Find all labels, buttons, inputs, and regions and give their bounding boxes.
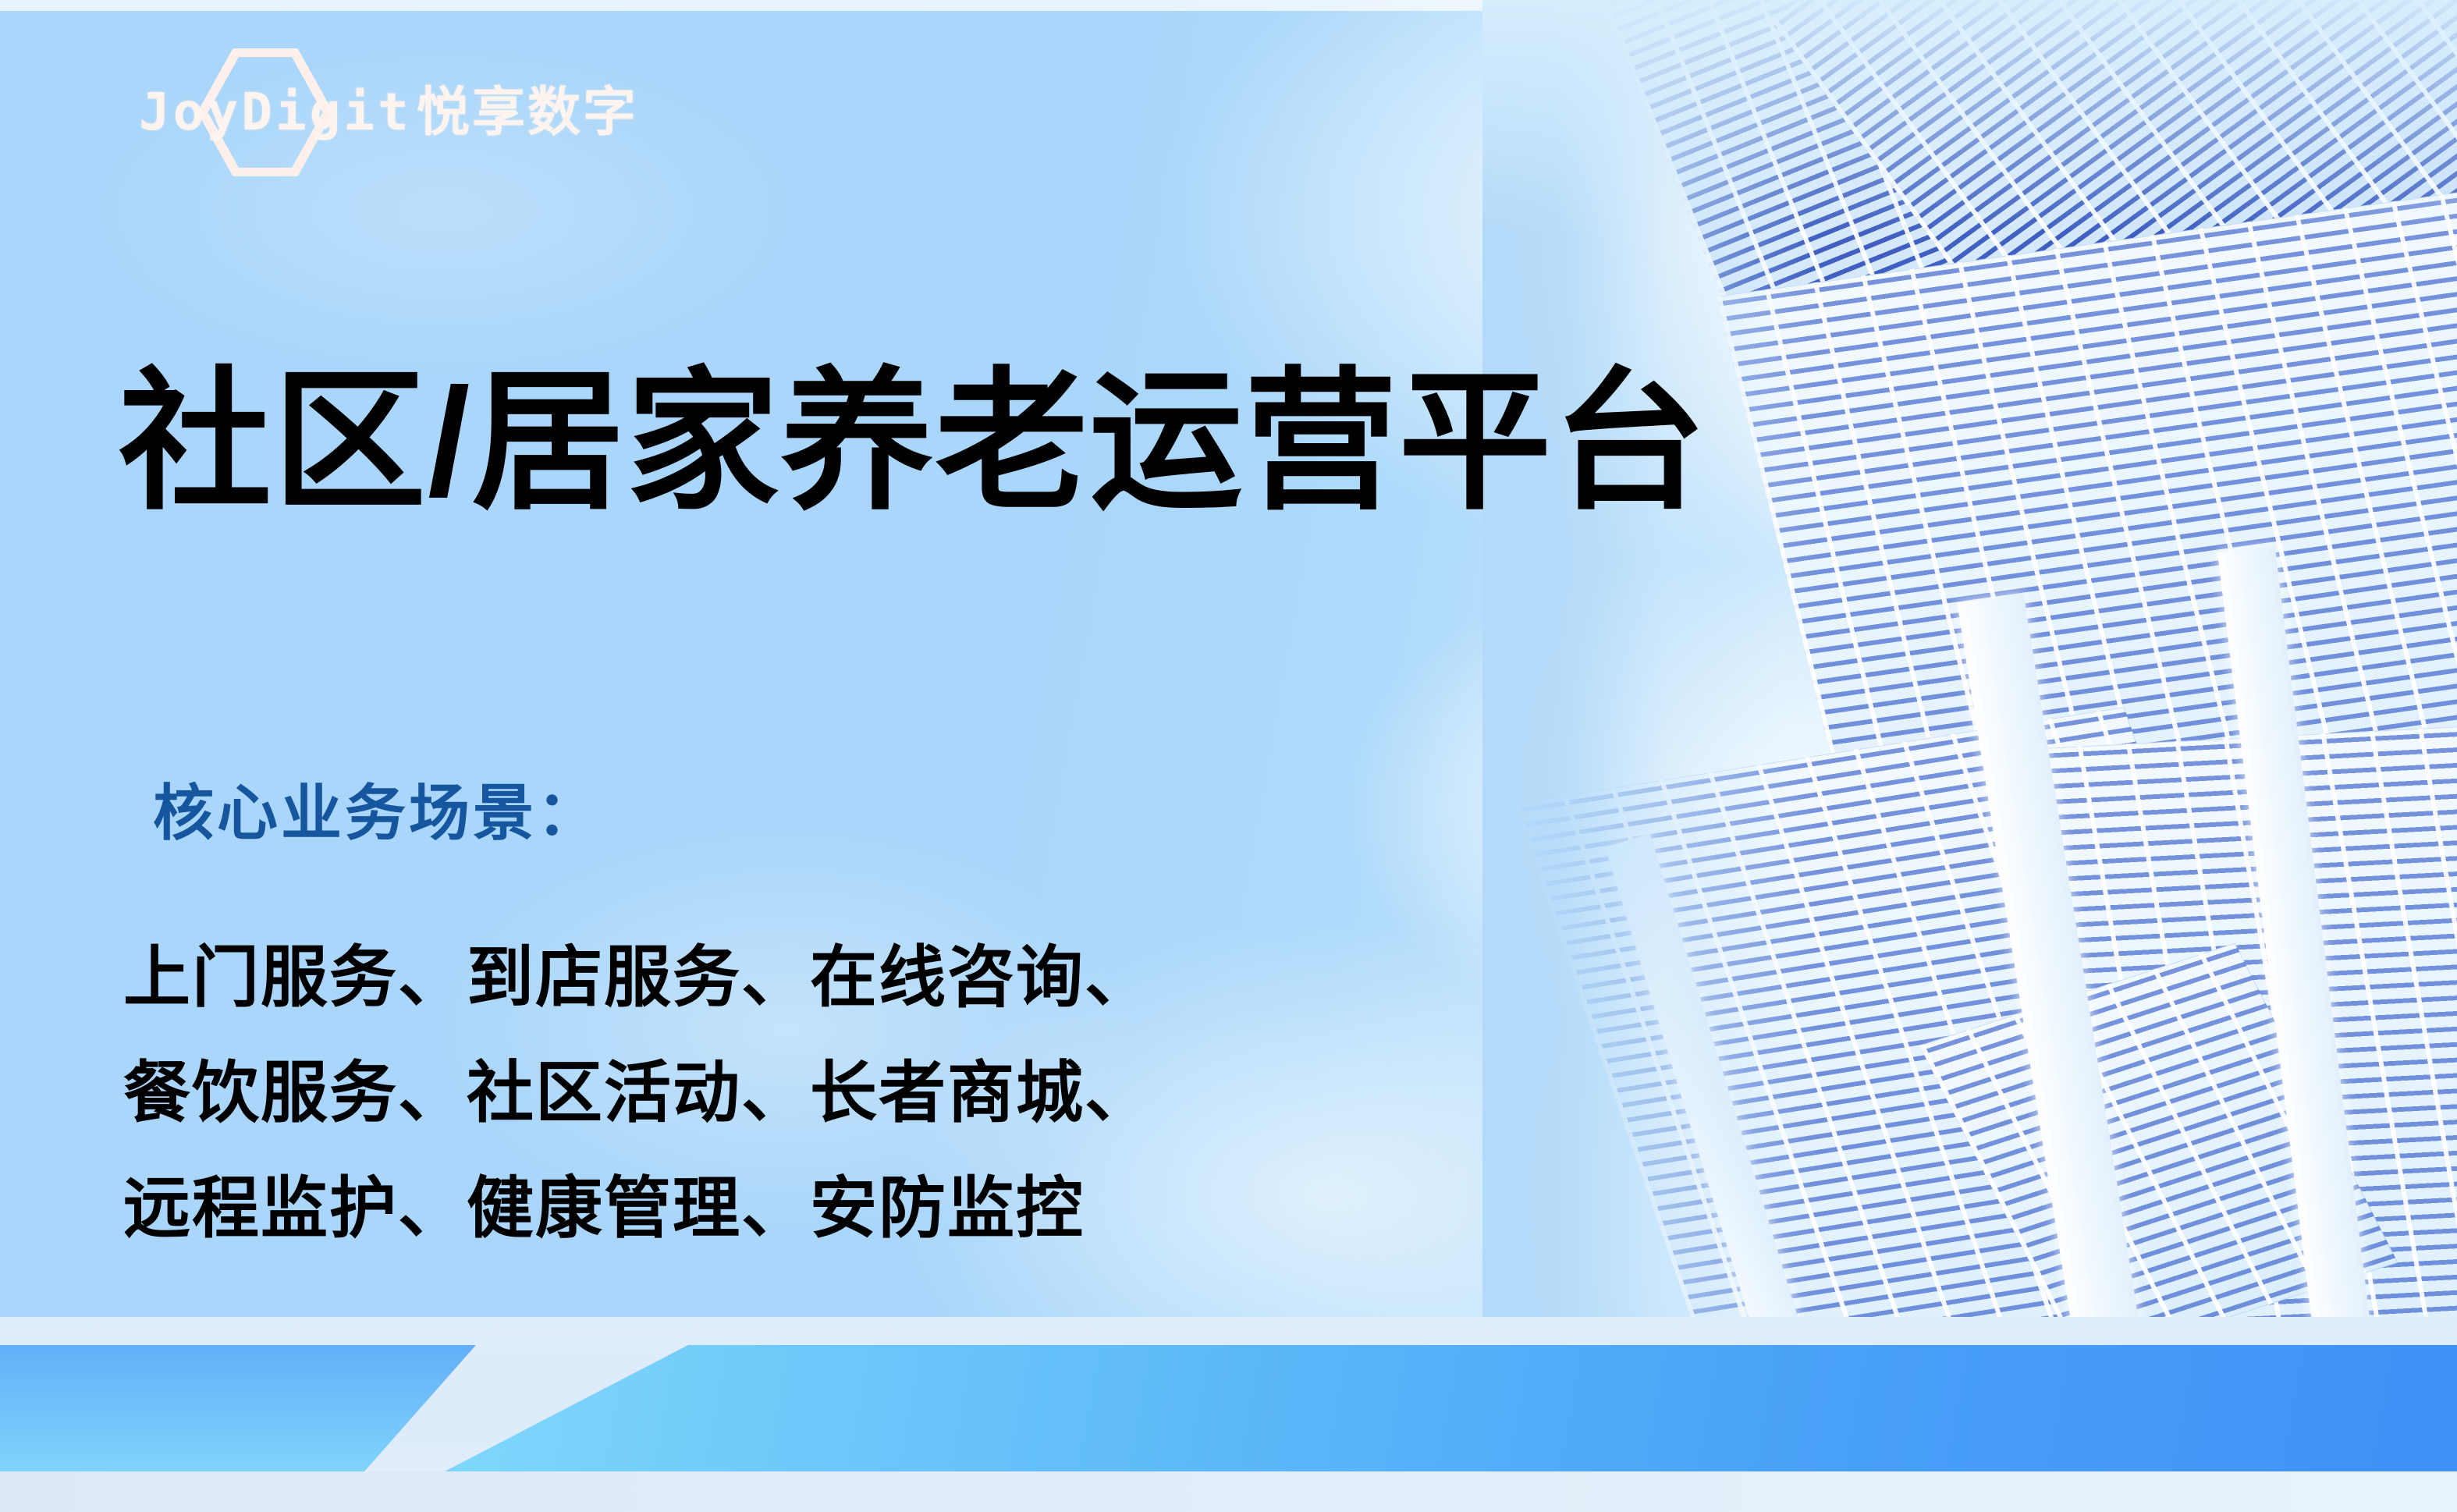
band-bottom-strip xyxy=(0,1471,2457,1512)
logo-mark: JoyDigit xyxy=(139,62,396,162)
list-item: 上门服务、到店服务、在线咨询、 xyxy=(123,921,1153,1036)
logo-wordmark: JoyDigit xyxy=(139,87,412,138)
band-right-parallelogram xyxy=(445,1345,2457,1471)
slide-canvas: JoyDigit 悦享数字 社区/居家养老运营平台 核心业务场景： 上门服务、到… xyxy=(0,0,2457,1512)
business-scenario-list: 上门服务、到店服务、在线咨询、 餐饮服务、社区活动、长者商城、 远程监护、健康管… xyxy=(123,921,1153,1267)
page-title: 社区/居家养老运营平台 xyxy=(119,360,1707,525)
list-item: 远程监护、健康管理、安防监控 xyxy=(123,1152,1153,1267)
list-item: 餐饮服务、社区活动、长者商城、 xyxy=(123,1036,1153,1152)
logo-chinese-name: 悦享数字 xyxy=(417,86,638,139)
section-heading: 核心业务场景： xyxy=(153,780,601,847)
brand-logo[interactable]: JoyDigit 悦享数字 xyxy=(139,62,638,162)
footer-decorative-band xyxy=(0,1317,2457,1512)
photo-edge-fade xyxy=(1482,0,2457,234)
skyscraper-photo xyxy=(1482,0,2457,1397)
